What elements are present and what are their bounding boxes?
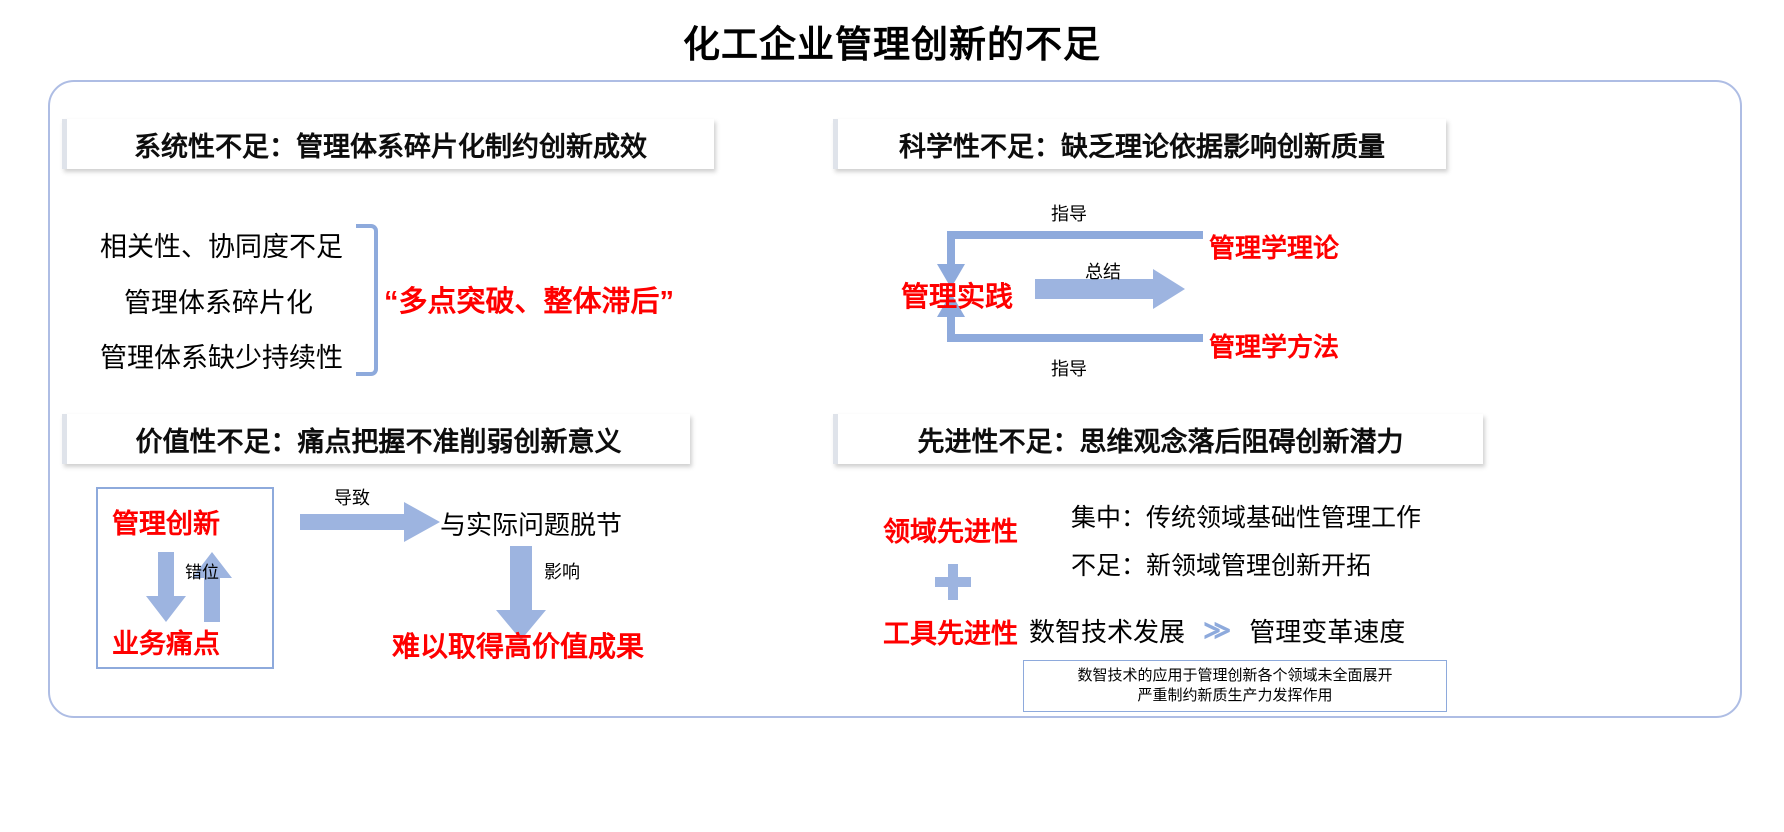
scientific-label-middle: 总结 — [1085, 258, 1121, 284]
plus-icon — [935, 564, 971, 600]
section-header-value: 价值性不足：痛点把握不准削弱创新意义 — [62, 414, 690, 464]
systematic-item-2: 管理体系碎片化 — [124, 281, 313, 320]
scientific-center-label: 管理实践 — [901, 275, 1013, 315]
scientific-method-label: 管理学方法 — [1209, 327, 1339, 364]
advanced-domain-line-2: 不足：新领域管理创新开拓 — [1071, 546, 1371, 582]
value-label-affect: 影响 — [544, 558, 580, 584]
section-header-systematic: 系统性不足：管理体系碎片化制约创新成效 — [62, 119, 714, 169]
scientific-label-bottom: 指导 — [1051, 355, 1087, 381]
advanced-note-line-1: 数智技术的应用于管理创新各个领域未全面展开 — [1077, 666, 1392, 686]
much-greater-than-icon: ≫ — [1203, 615, 1231, 646]
advanced-note-line-2: 严重制约新质生产力发挥作用 — [1137, 686, 1332, 706]
advanced-compare-right: 管理变革速度 — [1249, 612, 1405, 649]
slide-canvas: 化工企业管理创新的不足 系统性不足：管理体系碎片化制约创新成效 相关性、协同度不… — [0, 0, 1784, 832]
section-header-scientific: 科学性不足：缺乏理论依据影响创新质量 — [833, 119, 1446, 169]
value-label-cause: 导致 — [334, 484, 370, 510]
systematic-conclusion: “多点突破、整体滞后” — [384, 278, 674, 320]
scientific-label-top: 指导 — [1051, 200, 1087, 226]
value-label-mismatch: 错位 — [185, 558, 219, 583]
advanced-comparison: 数智技术发展 ≫ 管理变革速度 — [1029, 612, 1405, 649]
section-header-advanced: 先进性不足：思维观念落后阻碍创新潜力 — [833, 414, 1483, 464]
systematic-item-3: 管理体系缺少持续性 — [100, 336, 343, 375]
value-result-text: 难以取得高价值成果 — [392, 625, 644, 665]
scientific-diagram: 管理实践 管理学理论 管理学方法 指导 总结 指导 — [833, 180, 1453, 400]
advanced-note-box: 数智技术的应用于管理创新各个领域未全面展开 严重制约新质生产力发挥作用 — [1023, 660, 1447, 712]
advanced-tool-label: 工具先进性 — [883, 612, 1018, 651]
value-diagram: 管理创新 业务痛点 错位 导致 影响 与实际问题脱节 难以取得高价值成果 — [62, 470, 742, 680]
page-title: 化工企业管理创新的不足 — [0, 14, 1784, 68]
value-box-bottom-label: 业务痛点 — [112, 622, 220, 661]
advanced-diagram: 领域先进性 工具先进性 集中：传统领域基础性管理工作 不足：新领域管理创新开拓 … — [833, 470, 1493, 700]
advanced-domain-label: 领域先进性 — [883, 510, 1018, 549]
scientific-theory-label: 管理学理论 — [1209, 228, 1339, 265]
advanced-domain-line-1: 集中：传统领域基础性管理工作 — [1071, 498, 1421, 534]
advanced-compare-left: 数智技术发展 — [1029, 612, 1185, 649]
value-box-top-label: 管理创新 — [112, 502, 220, 541]
value-detach-text: 与实际问题脱节 — [440, 505, 622, 542]
systematic-item-1: 相关性、协同度不足 — [100, 225, 343, 264]
right-brace-icon — [356, 224, 378, 376]
